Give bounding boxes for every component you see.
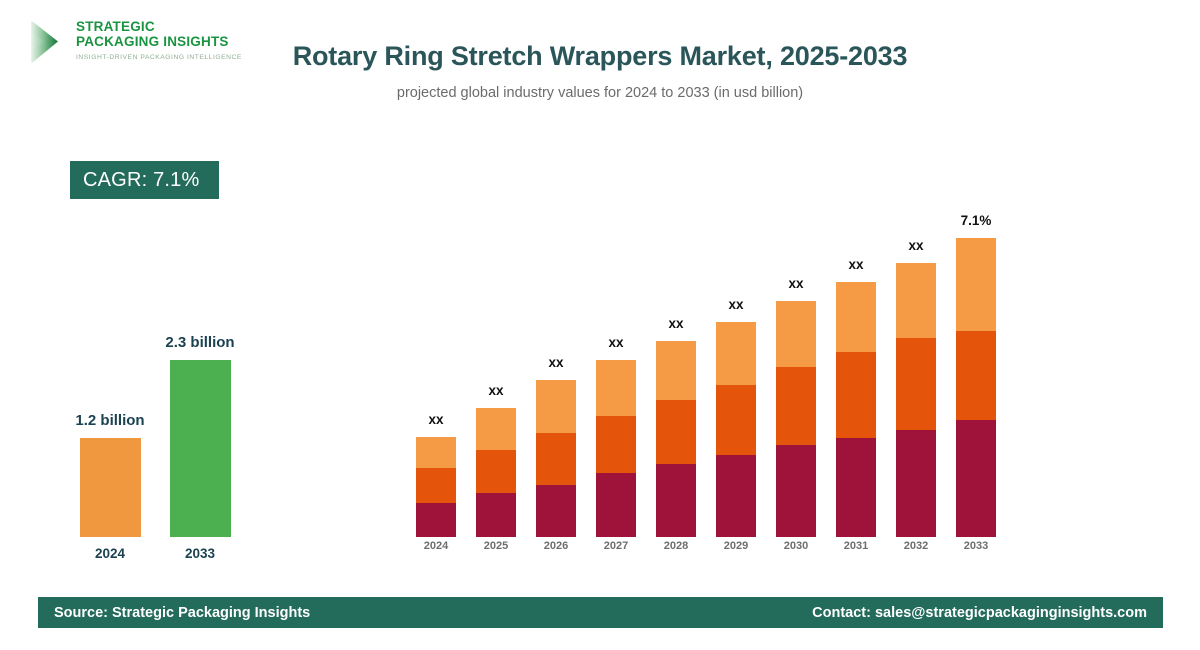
logo-tagline: INSIGHT-DRIVEN PACKAGING INTELLIGENCE	[76, 54, 242, 61]
stacked-bar-group: xx2029	[716, 0, 756, 537]
cagr-badge-label: CAGR: 7.1%	[83, 169, 199, 192]
stacked-bar-segment	[596, 473, 636, 537]
stacked-bar-group: xx2027	[596, 0, 636, 537]
stacked-bar-segment	[476, 408, 516, 450]
stacked-bar-segment	[836, 352, 876, 438]
stacked-bar-group: xx2026	[536, 0, 576, 537]
stacked-bar-segment	[776, 301, 816, 367]
stacked-bar-segment	[716, 455, 756, 537]
comparison-year-label: 2024	[60, 546, 160, 561]
stacked-bar-segment	[416, 503, 456, 537]
comparison-bar	[80, 438, 141, 537]
comparison-value-label: 2.3 billion	[130, 334, 270, 351]
stacked-bar-value-label: xx	[696, 297, 776, 312]
stacked-bar-segment	[956, 331, 996, 420]
logo-line-2: PACKAGING INSIGHTS	[76, 35, 242, 50]
stacked-bar-segment	[716, 322, 756, 385]
logo-text-block: STRATEGIC PACKAGING INSIGHTS INSIGHT-DRI…	[76, 16, 242, 61]
stacked-bar-segment	[416, 437, 456, 468]
stacked-bar-value-label: xx	[816, 257, 896, 272]
stacked-bar-segment	[656, 341, 696, 400]
stacked-bar-group: xx2025	[476, 0, 516, 537]
stacked-bar-segment	[896, 263, 936, 338]
comparison-bar	[170, 360, 231, 537]
stacked-bar-segment	[716, 385, 756, 455]
cagr-badge: CAGR: 7.1%	[70, 161, 219, 199]
stacked-bar-value-label: xx	[636, 316, 716, 331]
stacked-bar-segment	[836, 282, 876, 352]
stacked-bar-segment	[596, 416, 636, 473]
stacked-bar-segment	[656, 464, 696, 537]
stacked-bar-segment	[776, 367, 816, 445]
stacked-bar-segment	[476, 493, 516, 537]
stacked-bar-group: xx2030	[776, 0, 816, 537]
comparison-year-label: 2033	[150, 546, 250, 561]
footer-contact: Contact: sales@strategicpackaginginsight…	[812, 605, 1147, 621]
stacked-bar-group: xx2032	[896, 0, 936, 537]
footer-source: Source: Strategic Packaging Insights	[54, 605, 310, 621]
logo-line-1: STRATEGIC	[76, 20, 242, 35]
footer-bar: Source: Strategic Packaging Insights Con…	[38, 597, 1163, 628]
stacked-bar-value-label: xx	[576, 335, 656, 350]
stacked-bar-segment	[896, 338, 936, 430]
stacked-bar-group: 7.1%2033	[956, 0, 996, 537]
stacked-bar-year-label: 2033	[936, 540, 1016, 552]
stacked-bar-segment	[536, 485, 576, 537]
stacked-bar-segment	[896, 430, 936, 537]
stacked-bar-segment	[416, 468, 456, 503]
stacked-bar-value-label: xx	[876, 238, 956, 253]
stacked-bar-segment	[656, 400, 696, 464]
stacked-bar-group: xx2024	[416, 0, 456, 537]
comparison-value-label: 1.2 billion	[40, 412, 180, 429]
stacked-bar-value-label: xx	[396, 412, 476, 427]
stacked-bar-segment	[836, 438, 876, 537]
stacked-bar-segment	[956, 420, 996, 537]
stacked-bar-segment	[776, 445, 816, 537]
chevron-right-logo-icon	[28, 16, 70, 68]
stacked-bar-segment	[476, 450, 516, 493]
stacked-bar-segment	[536, 380, 576, 433]
stacked-bar-group: xx2031	[836, 0, 876, 537]
stacked-bar-group: xx2028	[656, 0, 696, 537]
stacked-bar-segment	[536, 433, 576, 485]
stacked-bar-value-label: xx	[456, 383, 536, 398]
stacked-bar-value-label: xx	[516, 355, 596, 370]
stacked-bar-segment	[596, 360, 636, 416]
stacked-bar-value-label: 7.1%	[936, 213, 1016, 228]
brand-logo: STRATEGIC PACKAGING INSIGHTS INSIGHT-DRI…	[28, 16, 242, 68]
stacked-bar-segment	[956, 238, 996, 331]
stacked-bar-value-label: xx	[756, 276, 836, 291]
